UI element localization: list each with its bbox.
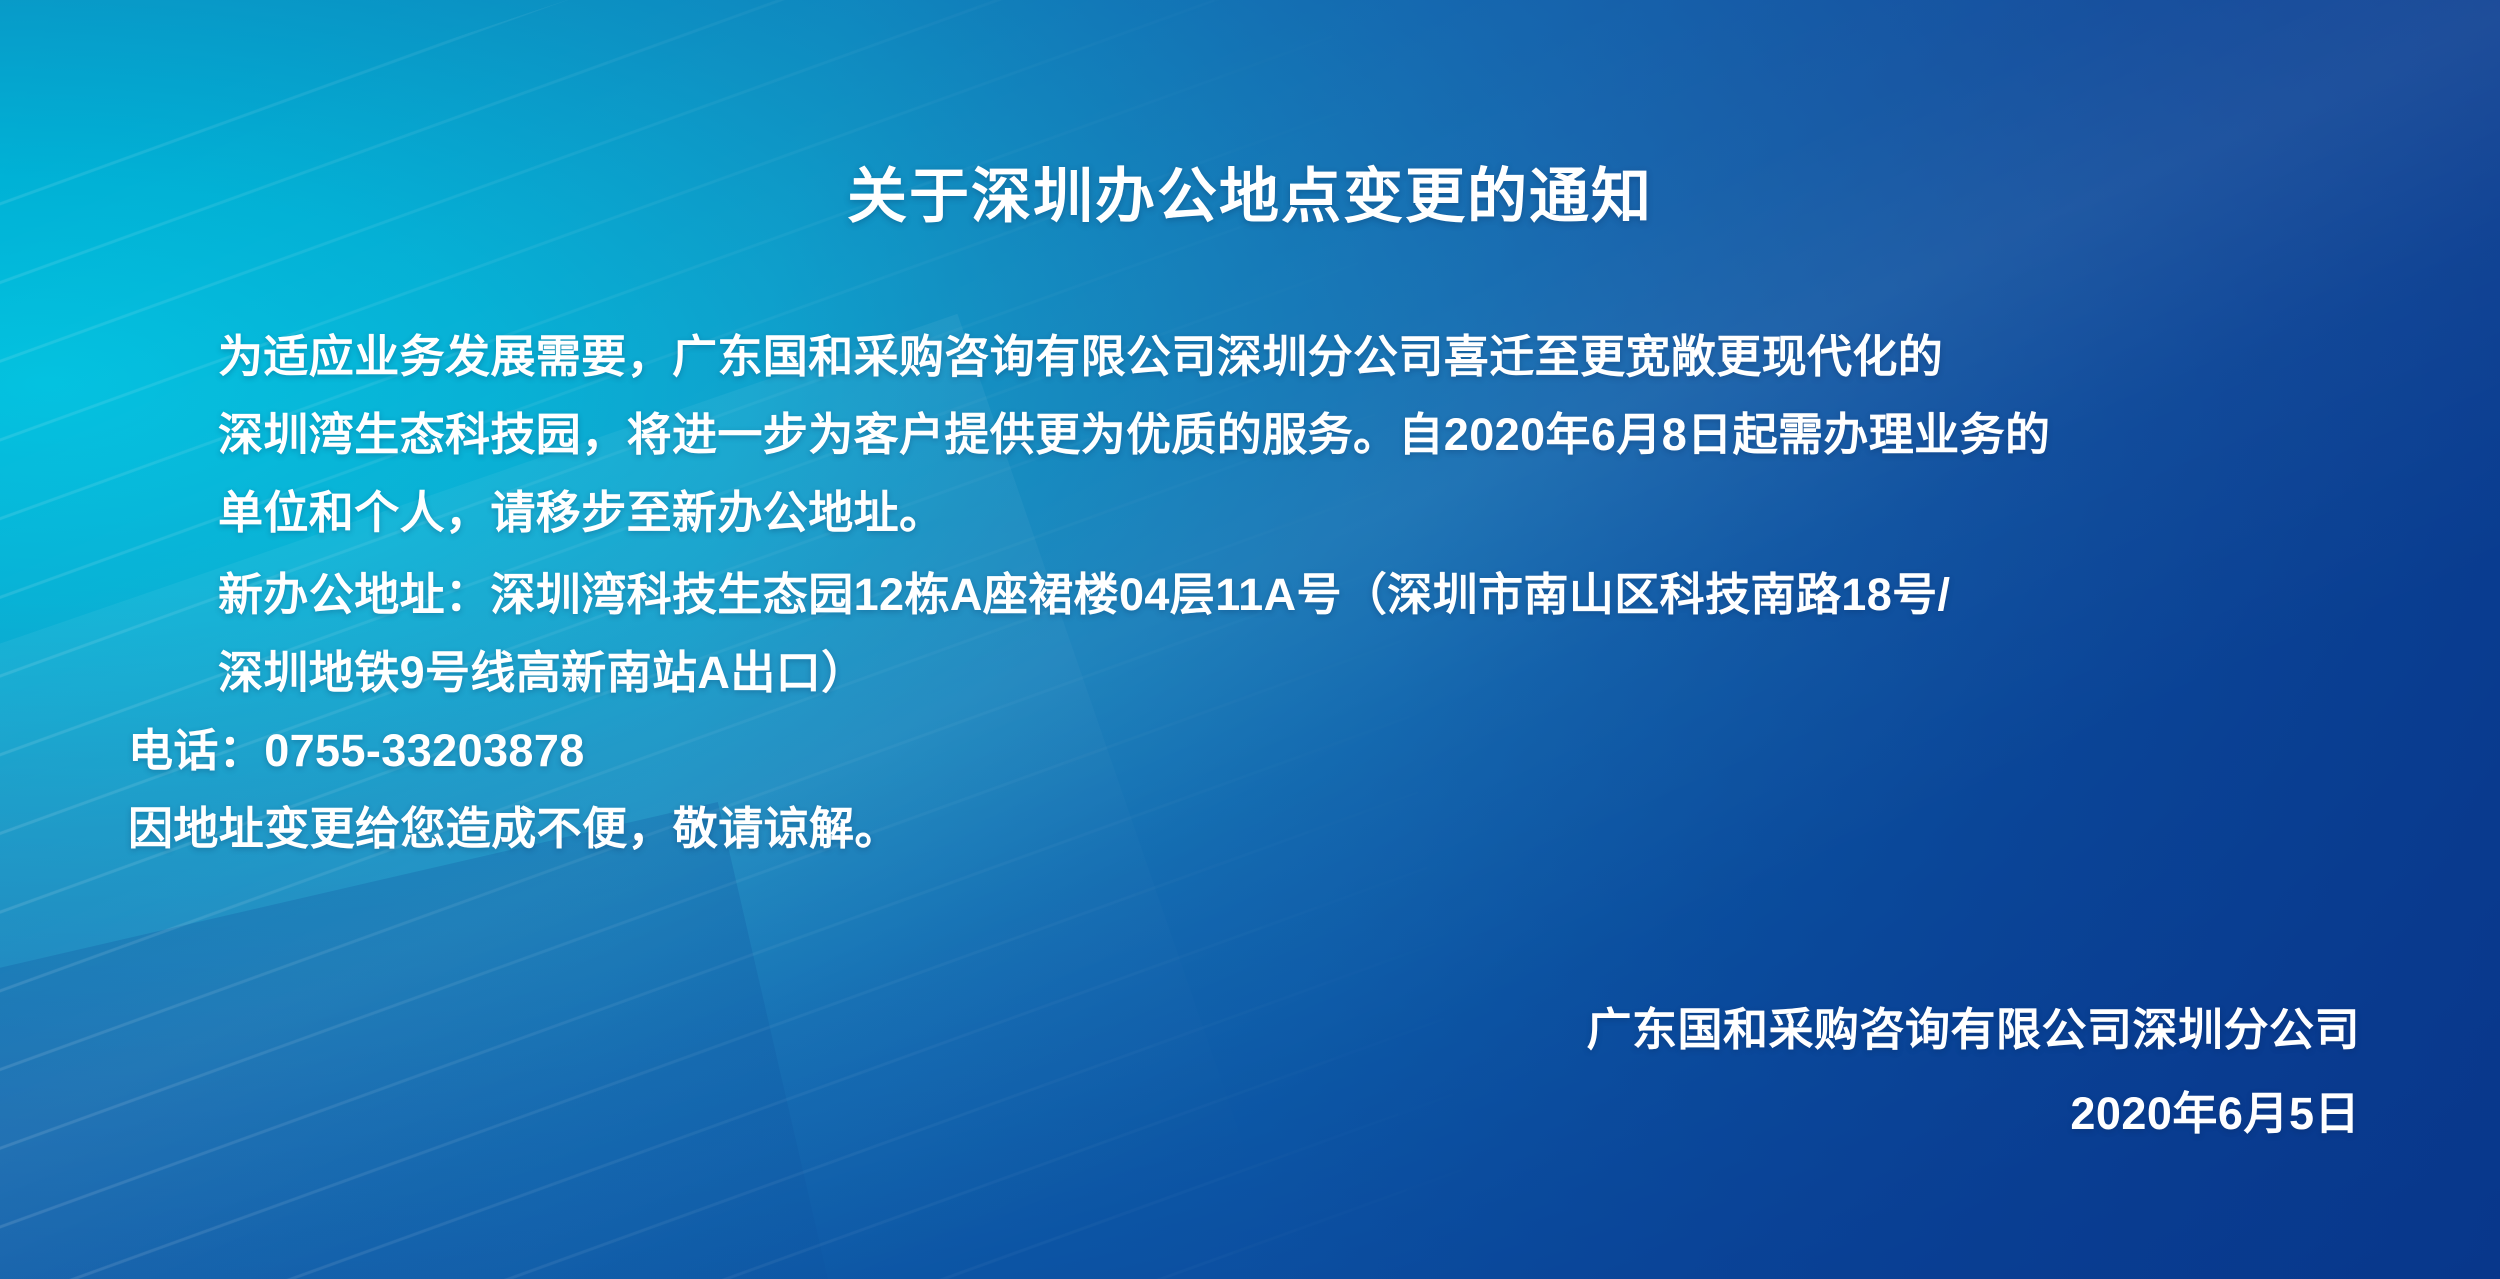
paragraph-new-address-line-1: 新办公地址：深圳湾科技生态园12栋A座裙楼04层11A号（深圳市南山区科技南路1… xyxy=(128,556,2388,634)
signature-block: 广东国和采购咨询有限公司深圳分公司 2020年6月5日 xyxy=(1586,988,2360,1156)
paragraph-intro-line-2: 深圳湾生态科技园，将进一步为客户提供更为优质的服务。自2020年6月8日起需办理… xyxy=(128,396,2388,474)
notice-body: 为适应业务发展需要，广东国和采购咨询有限公司深圳分公司喜迁至更宽敞更现代化的 深… xyxy=(128,318,2388,868)
paragraph-phone: 电话：0755-33203878 xyxy=(128,712,2388,790)
apology-line: 因地址变更给您造成不便，敬请谅解。 xyxy=(128,790,2388,868)
notice-content: 关于深圳办公地点变更的通知 为适应业务发展需要，广东国和采购咨询有限公司深圳分公… xyxy=(0,0,2500,1279)
paragraph-new-address: 新办公地址：深圳湾科技生态园12栋A座裙楼04层11A号（深圳市南山区科技南路1… xyxy=(128,556,2388,712)
paragraph-intro: 为适应业务发展需要，广东国和采购咨询有限公司深圳分公司喜迁至更宽敞更现代化的 深… xyxy=(128,318,2388,552)
signature-date: 2020年6月5日 xyxy=(1586,1072,2360,1156)
notice-title: 关于深圳办公地点变更的通知 xyxy=(0,162,2500,231)
paragraph-intro-line-1: 为适应业务发展需要，广东国和采购咨询有限公司深圳分公司喜迁至更宽敞更现代化的 xyxy=(128,318,2388,396)
phone-line: 电话：0755-33203878 xyxy=(128,712,2388,790)
paragraph-intro-line-3: 单位和个人，请移步至新办公地址。 xyxy=(128,474,2388,552)
notice-poster: 关于深圳办公地点变更的通知 为适应业务发展需要，广东国和采购咨询有限公司深圳分公… xyxy=(0,0,2500,1279)
paragraph-apology: 因地址变更给您造成不便，敬请谅解。 xyxy=(128,790,2388,868)
paragraph-new-address-line-2: 深圳地铁9号线高新南站A出口） xyxy=(128,634,2388,712)
signature-company: 广东国和采购咨询有限公司深圳分公司 xyxy=(1586,988,2360,1072)
